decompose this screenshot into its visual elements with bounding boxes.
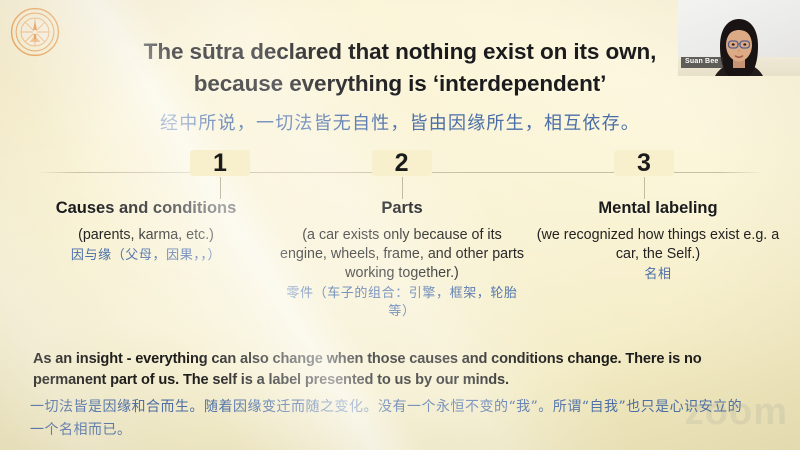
slide-title-line-2: because everything is ‘interdependent’ [52,68,748,100]
column-1-heading: Causes and conditions [22,198,270,219]
step-number-3: 3 [614,150,674,176]
column-mental-labeling: Mental labeling (we recognized how thing… [530,198,786,284]
insight-text-english: As an insight - everything can also chan… [33,349,745,392]
column-3-body: (we recognized how things exist e.g. a c… [534,226,782,264]
column-1-body: (parents, karma, etc.) [22,226,270,245]
participant-name-label: Suan Bee [681,57,723,68]
column-parts: Parts (a car exists only because of its … [274,198,530,321]
step-stem-2 [402,177,403,199]
column-1-chinese: 因与缘（父母，因果，，） [22,247,270,265]
slide-title-line-1: The sūtra declared that nothing exist on… [52,36,748,68]
column-2-body: (a car exists only because of its engine… [278,226,526,283]
column-2-chinese: 零件（车子的组合：引擎，框架，轮胎等） [278,285,526,320]
insight-text-chinese: 一切法皆是因缘和合而生。随着因缘变迁而随之变化。没有一个永恒不变的“我”。所谓“… [30,396,750,441]
step-number-1-label: 1 [190,150,250,176]
step-number-2-label: 2 [372,150,432,176]
participant-video-tile[interactable]: Suan Bee [678,0,800,76]
step-stem-3 [644,177,645,199]
step-number-3-label: 3 [614,150,674,176]
slide-screenshot: The sūtra declared that nothing exist on… [0,0,800,450]
slide-subtitle-chinese: 经中所说，一切法皆无自性，皆由因缘所生，相互依存。 [0,109,800,135]
three-column-section: Causes and conditions (parents, karma, e… [18,198,786,321]
column-2-heading: Parts [278,198,526,219]
step-number-1: 1 [190,150,250,176]
step-number-2: 2 [372,150,432,176]
column-3-heading: Mental labeling [534,198,782,219]
step-stem-1 [220,177,221,199]
zoom-watermark: zoom [685,391,788,434]
column-causes-and-conditions: Causes and conditions (parents, karma, e… [18,198,274,265]
column-3-chinese: 名相 [534,266,782,284]
